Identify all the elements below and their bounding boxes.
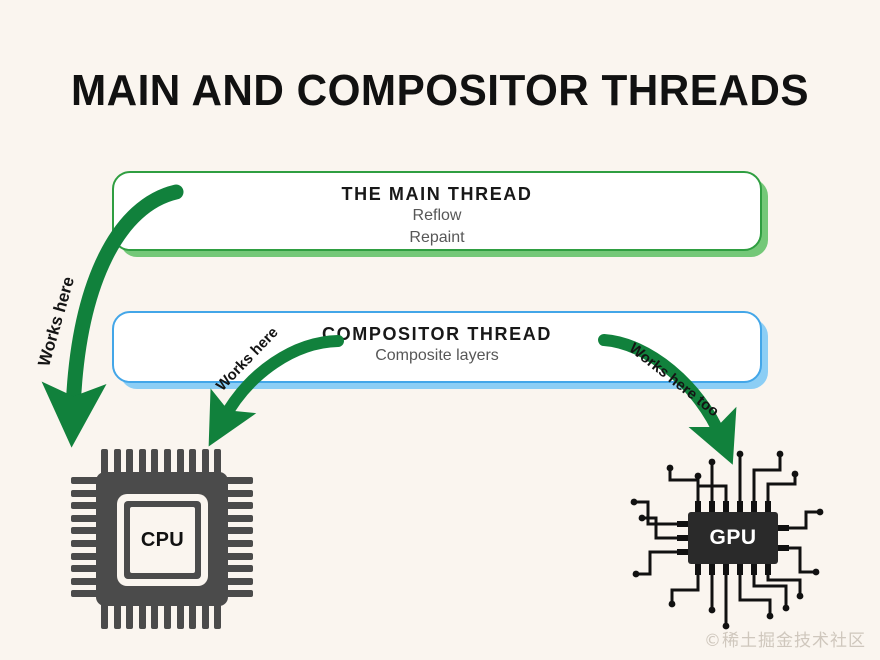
gpu-label: GPU [709,526,756,550]
gpu-trace-node [709,459,716,466]
gpu-pin [677,521,688,527]
main-thread-box: THE MAIN THREAD Reflow Repaint [112,171,762,251]
cpu-pin-right [225,553,253,560]
gpu-pin [723,501,729,512]
gpu-trace-node [783,605,790,612]
gpu-trace-node [669,601,676,608]
gpu-pin [677,549,688,555]
cpu-pin-right [225,502,253,509]
gpu-trace [636,552,677,574]
cpu-pin-right [225,590,253,597]
cpu-pin-left [71,578,99,585]
gpu-trace-node [737,451,744,458]
gpu-trace-node [817,509,824,516]
gpu-trace-node [695,473,702,480]
main-thread-line-repaint: Repaint [409,227,464,249]
cpu-pin-left [71,540,99,547]
gpu-trace-node [633,571,640,578]
cpu-pin-left [71,502,99,509]
gpu-pin [677,535,688,541]
gpu-pin [695,501,701,512]
cpu-pin-right [225,540,253,547]
gpu-trace-node [777,451,784,458]
cpu-pin-left [71,527,99,534]
gpu-trace-node [723,623,730,630]
cpu-pin-left [71,565,99,572]
gpu-pin [737,501,743,512]
gpu-pin [765,501,771,512]
cpu-pin-left [71,477,99,484]
gpu-trace [768,564,800,596]
gpu-body: GPU [688,512,778,564]
gpu-chip: GPU [620,440,830,640]
cpu-pin-right [225,515,253,522]
cpu-face: CPU [130,507,195,573]
cpu-pin-left [71,553,99,560]
gpu-trace-node [767,613,774,620]
cpu-pin-right [225,565,253,572]
gpu-trace-node [639,515,646,522]
gpu-trace [670,468,698,501]
gpu-trace-node [667,465,674,472]
gpu-pin [709,501,715,512]
slide-canvas: MAIN AND COMPOSITOR THREADS THE MAIN THR… [0,0,880,660]
arrow-label-main-to-cpu: Works here [34,275,79,369]
gpu-trace [778,548,816,572]
cpu-pin-left [71,515,99,522]
compositor-thread-title: COMPOSITOR THREAD [322,324,552,345]
cpu-pin-right [225,477,253,484]
main-thread-box-content: THE MAIN THREAD Reflow Repaint [114,173,760,249]
cpu-chip: CPU [66,444,256,634]
gpu-trace-node [813,569,820,576]
main-thread-title: THE MAIN THREAD [342,184,533,205]
gpu-trace-node [709,607,716,614]
gpu-pin [751,501,757,512]
main-thread-line-reflow: Reflow [413,205,462,227]
page-title: MAIN AND COMPOSITOR THREADS [18,66,863,116]
gpu-trace-node [792,471,799,478]
gpu-trace [672,564,698,604]
gpu-trace [768,474,795,501]
cpu-pin-right [225,578,253,585]
cpu-pin-left [71,490,99,497]
gpu-trace-node [631,499,638,506]
cpu-label: CPU [141,529,184,552]
compositor-thread-line-composite: Composite layers [375,345,499,367]
cpu-pin-left [71,590,99,597]
cpu-pin-right [225,490,253,497]
gpu-trace-node [797,593,804,600]
cpu-pin-right [225,527,253,534]
